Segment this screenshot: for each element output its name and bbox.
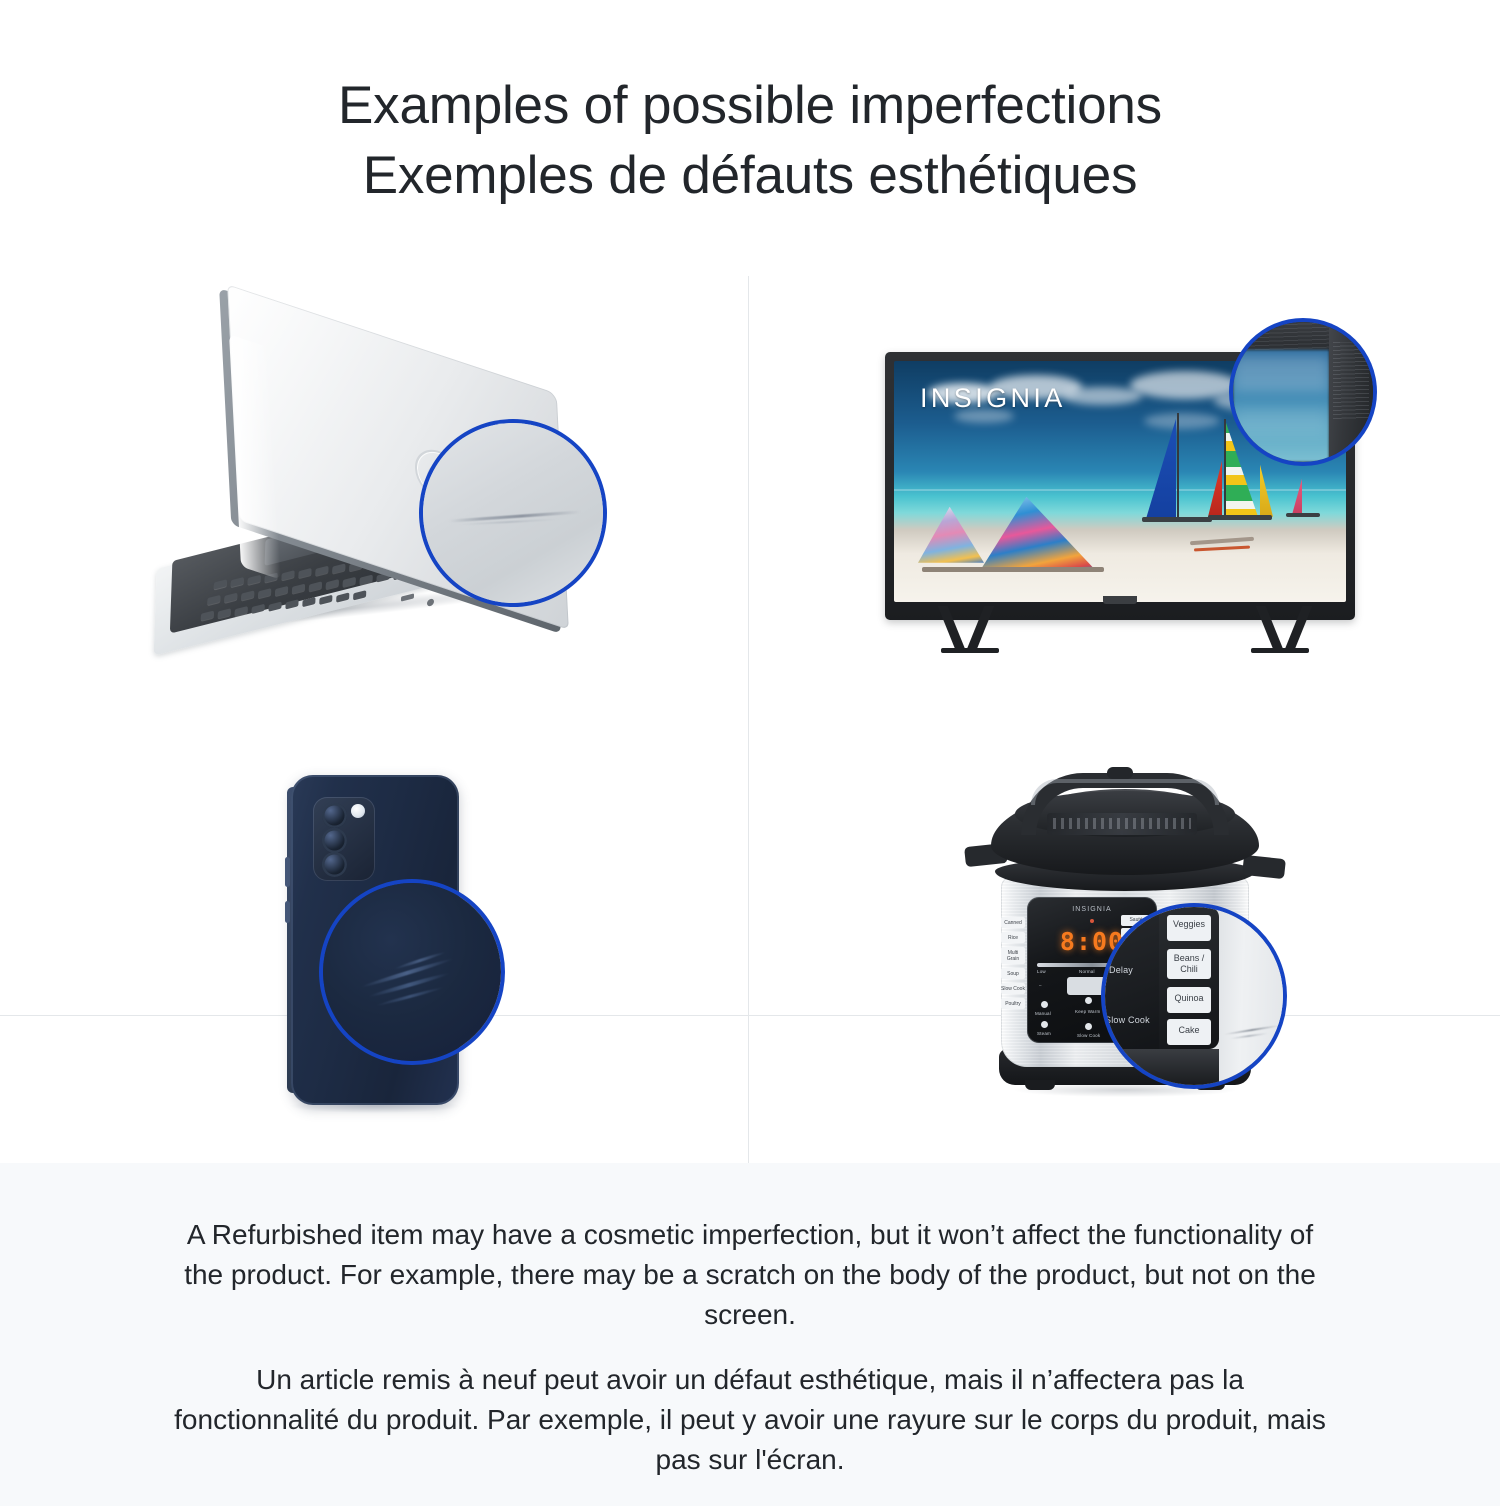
page-title-english: Examples of possible imperfections bbox=[338, 71, 1162, 141]
cooker-status-indicator bbox=[1090, 919, 1094, 923]
refurbished-imperfections-infographic: Examples of possible imperfections Exemp… bbox=[0, 0, 1500, 1500]
cell-television: INSIGNIA bbox=[750, 276, 1500, 720]
boat-hull-3 bbox=[1286, 513, 1320, 517]
tv-foot-pad-right bbox=[1251, 648, 1309, 653]
tv-foot-pad-left bbox=[941, 648, 999, 653]
page-title-french: Exemples de défauts esthétiques bbox=[363, 141, 1138, 211]
cooker-left-button-column: Canned Rice Multi Grain Soup Slow Cook P… bbox=[1001, 917, 1025, 1009]
sail-yellow bbox=[1260, 465, 1273, 517]
pressure-cooker-illustration: INSIGNIA 8:00 Low Normal More – + bbox=[955, 761, 1295, 1121]
sail-blue bbox=[1146, 419, 1176, 519]
sailboat-mast bbox=[1177, 413, 1179, 519]
cell-pressure-cooker: INSIGNIA 8:00 Low Normal More – + bbox=[750, 720, 1500, 1164]
television-illustration: INSIGNIA bbox=[865, 318, 1385, 678]
cooker-button-slowcook[interactable]: Slow Cook bbox=[1001, 983, 1025, 994]
cooker-key-mode[interactable] bbox=[1085, 997, 1092, 1004]
cooker-button-rice[interactable]: Rice bbox=[1001, 932, 1025, 943]
camera-lens-3-icon bbox=[322, 852, 347, 877]
cooker-steam-valve-icon bbox=[1107, 767, 1133, 779]
cell-laptop bbox=[0, 276, 750, 720]
magnifier-phone-scratches bbox=[323, 883, 501, 1061]
phone-camera-module bbox=[313, 797, 375, 881]
magnifier-tv-bezel-scuff bbox=[1233, 322, 1373, 462]
magnifier-laptop-content bbox=[423, 423, 603, 603]
beached-hull-right bbox=[1190, 537, 1254, 545]
cooker-button-poultry[interactable]: Poultry bbox=[1001, 998, 1025, 1009]
smartphone-illustration bbox=[225, 761, 525, 1121]
bezel-scuff bbox=[1333, 342, 1369, 420]
magnified-button-veggies[interactable]: Veggies bbox=[1167, 915, 1211, 941]
scratch-mark-secondary bbox=[1229, 1032, 1269, 1040]
camera-lens-1-icon bbox=[322, 803, 347, 828]
tv-brand-text: INSIGNIA bbox=[920, 383, 1066, 414]
footer-paragraph-english: A Refurbished item may have a cosmetic i… bbox=[170, 1215, 1330, 1334]
cooker-button-canned[interactable]: Canned bbox=[1001, 917, 1025, 928]
cooker-preset-button[interactable] bbox=[1067, 977, 1109, 995]
tv-ir-sensor bbox=[1103, 596, 1137, 604]
beached-sail-center bbox=[980, 497, 1096, 571]
boat-hull-2 bbox=[1208, 515, 1272, 520]
cooker-button-soup[interactable]: Soup bbox=[1001, 968, 1025, 979]
cooker-key-steam[interactable] bbox=[1041, 1021, 1048, 1028]
beached-hull-right-2 bbox=[1194, 545, 1250, 551]
cooker-key-slowcook[interactable] bbox=[1085, 1023, 1092, 1030]
camera-flash-icon bbox=[351, 804, 365, 818]
footer-description: A Refurbished item may have a cosmetic i… bbox=[0, 1163, 1500, 1506]
magnifier-cooker-scratch: Delay Slow Cook Veggies Beans / Chili Qu… bbox=[1105, 907, 1283, 1085]
magnified-button-beans[interactable]: Beans / Chili bbox=[1167, 949, 1211, 979]
boat-hull-1 bbox=[1142, 517, 1212, 522]
camera-lens-2-icon bbox=[322, 828, 347, 853]
beached-hull bbox=[922, 567, 1104, 572]
product-examples-grid: INSIGNIA bbox=[0, 276, 1500, 1163]
cooker-button-multigrain[interactable]: Multi Grain bbox=[1001, 947, 1025, 964]
magnified-button-cake[interactable]: Cake bbox=[1167, 1019, 1211, 1045]
beached-sail-left bbox=[918, 507, 984, 563]
magnified-button-quinoa[interactable]: Quinoa bbox=[1167, 987, 1211, 1013]
magnifier-cooker-content: Delay Slow Cook Veggies Beans / Chili Qu… bbox=[1105, 907, 1283, 1085]
cooker-lid-handle-highlight bbox=[1031, 779, 1219, 805]
header: Examples of possible imperfections Exemp… bbox=[0, 0, 1500, 276]
magnifier-phone-content bbox=[323, 883, 501, 1061]
footer-paragraph-french: Un article remis à neuf peut avoir un dé… bbox=[170, 1360, 1330, 1479]
magnifier-tv-content bbox=[1233, 322, 1373, 462]
laptop-illustration bbox=[115, 333, 635, 663]
cooker-key-manual[interactable] bbox=[1041, 1001, 1048, 1008]
sail-pink bbox=[1292, 479, 1302, 515]
sailboat-mast-2 bbox=[1224, 419, 1226, 517]
phone-volume-button bbox=[285, 857, 290, 887]
cell-smartphone bbox=[0, 720, 750, 1164]
magnifier-laptop-scratch bbox=[423, 423, 603, 603]
phone-power-button bbox=[285, 901, 290, 923]
cooker-foot-left bbox=[1025, 1080, 1055, 1090]
